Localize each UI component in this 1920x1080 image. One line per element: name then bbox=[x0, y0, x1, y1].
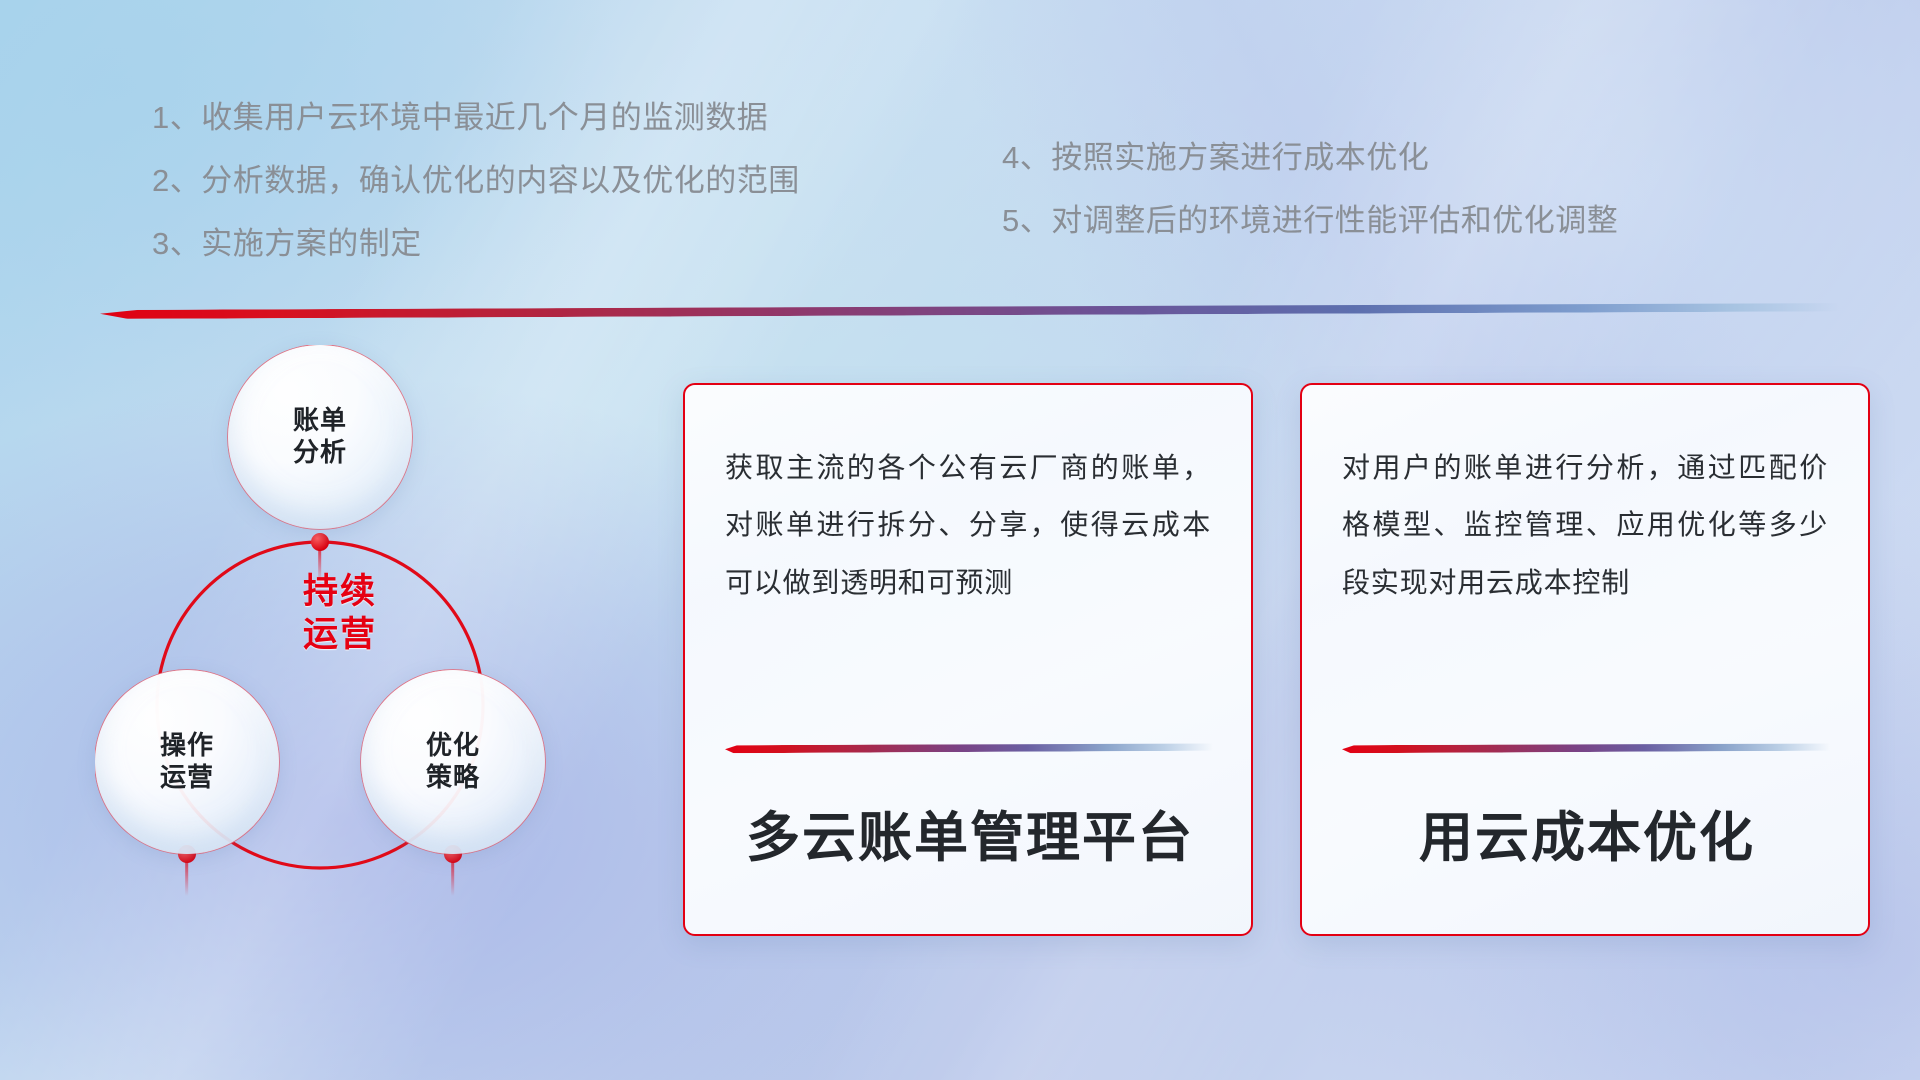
venn-bubble-left-line1: 操作 bbox=[160, 730, 214, 762]
card-1-title: 多云账单管理平台 bbox=[685, 793, 1255, 872]
venn-bubble-right-line2: 策略 bbox=[426, 762, 480, 794]
step-item-5: 5、对调整后的环境进行性能评估和优化调整 bbox=[1002, 195, 1618, 240]
card-2-title: 用云成本优化 bbox=[1302, 793, 1872, 872]
venn-bubble-top-line2: 分析 bbox=[293, 437, 347, 469]
venn-node-dot-top bbox=[311, 533, 329, 551]
slide-canvas: 1、收集用户云环境中最近几个月的监测数据 2、分析数据，确认优化的内容以及优化的… bbox=[0, 0, 1920, 1080]
venn-bubble-optimization-strategy[interactable]: 优化 策略 bbox=[361, 670, 545, 854]
card-1-divider bbox=[725, 743, 1213, 754]
venn-center-line1: 持续 bbox=[250, 570, 430, 613]
card-multicloud-billing-platform[interactable]: 获取主流的各个公有云厂商的账单，对账单进行拆分、分享，使得云成本可以做到透明和可… bbox=[683, 383, 1253, 936]
step-item-2: 2、分析数据，确认优化的内容以及优化的范围 bbox=[152, 155, 800, 200]
step-item-1: 1、收集用户云环境中最近几个月的监测数据 bbox=[152, 92, 768, 137]
venn-center-label: 持续 运营 bbox=[250, 570, 430, 657]
card-2-divider bbox=[1342, 743, 1830, 754]
card-cloud-cost-optimization[interactable]: 对用户的账单进行分析，通过匹配价格模型、监控管理、应用优化等多少段实现对用云成本… bbox=[1300, 383, 1870, 936]
venn-center-line2: 运营 bbox=[250, 613, 430, 656]
step-item-3: 3、实施方案的制定 bbox=[152, 218, 422, 263]
venn-bubble-top-line1: 账单 bbox=[293, 405, 347, 437]
card-2-body-text: 对用户的账单进行分析，通过匹配价格模型、监控管理、应用优化等多少段实现对用云成本… bbox=[1342, 439, 1828, 611]
section-divider bbox=[100, 310, 1840, 322]
step-item-4: 4、按照实施方案进行成本优化 bbox=[1002, 132, 1429, 177]
venn-bubble-billing-analysis[interactable]: 账单 分析 bbox=[228, 345, 412, 529]
steps-list: 1、收集用户云环境中最近几个月的监测数据 2、分析数据，确认优化的内容以及优化的… bbox=[0, 92, 1920, 282]
venn-bubble-operations[interactable]: 操作 运营 bbox=[95, 670, 279, 854]
card-1-body-text: 获取主流的各个公有云厂商的账单，对账单进行拆分、分享，使得云成本可以做到透明和可… bbox=[725, 439, 1211, 611]
venn-bubble-left-line2: 运营 bbox=[160, 762, 214, 794]
venn-bubble-right-line1: 优化 bbox=[426, 730, 480, 762]
venn-diagram: 账单 分析 操作 运营 优化 策略 持续 运营 bbox=[95, 345, 625, 955]
gradient-rule-line bbox=[100, 302, 1840, 319]
